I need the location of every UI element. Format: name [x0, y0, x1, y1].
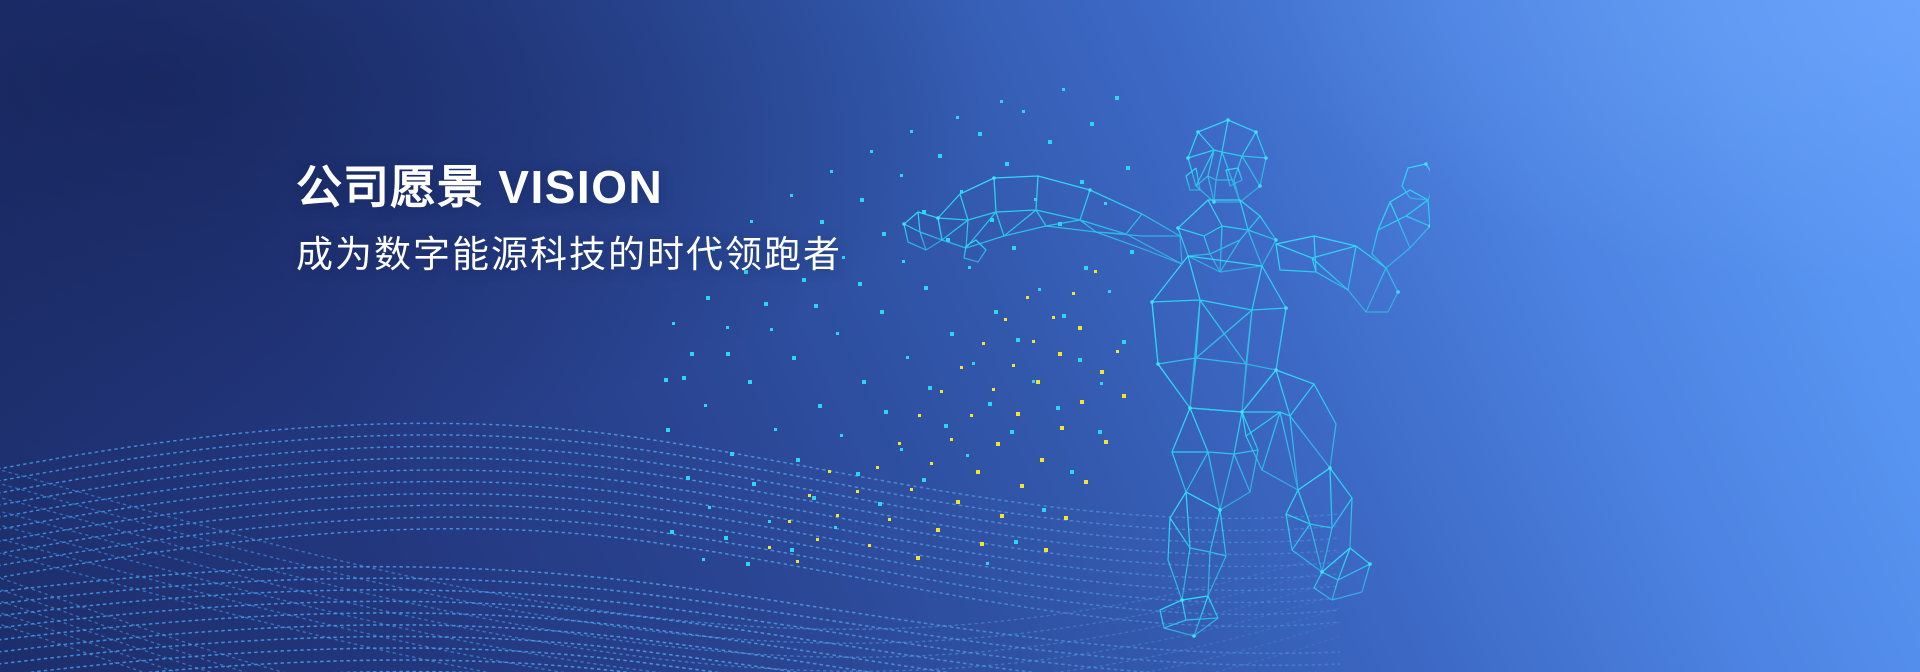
wireframe-runner	[790, 40, 1430, 660]
headline-en: VISION	[484, 161, 663, 213]
vision-banner: 公司愿景 VISION 成为数字能源科技的时代领跑者	[0, 0, 1920, 672]
headline-cn: 公司愿景	[296, 161, 484, 213]
page-subtitle: 成为数字能源科技的时代领跑者	[296, 232, 1056, 278]
banner-text-block: 公司愿景 VISION 成为数字能源科技的时代领跑者	[296, 160, 1056, 279]
dispersing-particles	[660, 70, 1140, 570]
background-vignette	[0, 0, 1920, 672]
page-title: 公司愿景 VISION	[296, 160, 1056, 214]
dotted-wave-mesh	[0, 252, 1340, 672]
